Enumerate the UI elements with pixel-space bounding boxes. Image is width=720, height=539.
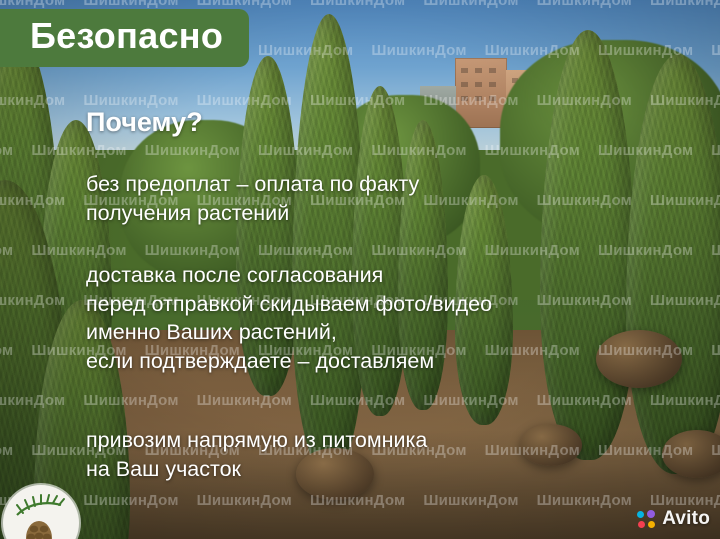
title-text: Безопасно <box>30 18 223 54</box>
pine-cone-icon <box>26 521 52 539</box>
subheading: Почему? <box>86 107 203 138</box>
pine-branch-icon <box>17 495 64 515</box>
avito-badge: Avito <box>637 508 710 530</box>
root-ball <box>520 424 582 466</box>
title-badge: Безопасно <box>0 9 249 67</box>
benefit-paragraph-3: привозим напрямую из питомника на Ваш уч… <box>86 426 427 483</box>
root-ball <box>596 330 682 388</box>
avito-dots-icon <box>637 510 656 529</box>
benefit-paragraph-2: доставка после согласования перед отправ… <box>86 261 492 375</box>
avito-label: Avito <box>662 508 710 530</box>
listing-photo: ШишкинДомШишкинДомШишкинДомШишкинДомШишк… <box>0 0 720 539</box>
benefit-paragraph-1: без предоплат – оплата по факту получени… <box>86 170 419 227</box>
